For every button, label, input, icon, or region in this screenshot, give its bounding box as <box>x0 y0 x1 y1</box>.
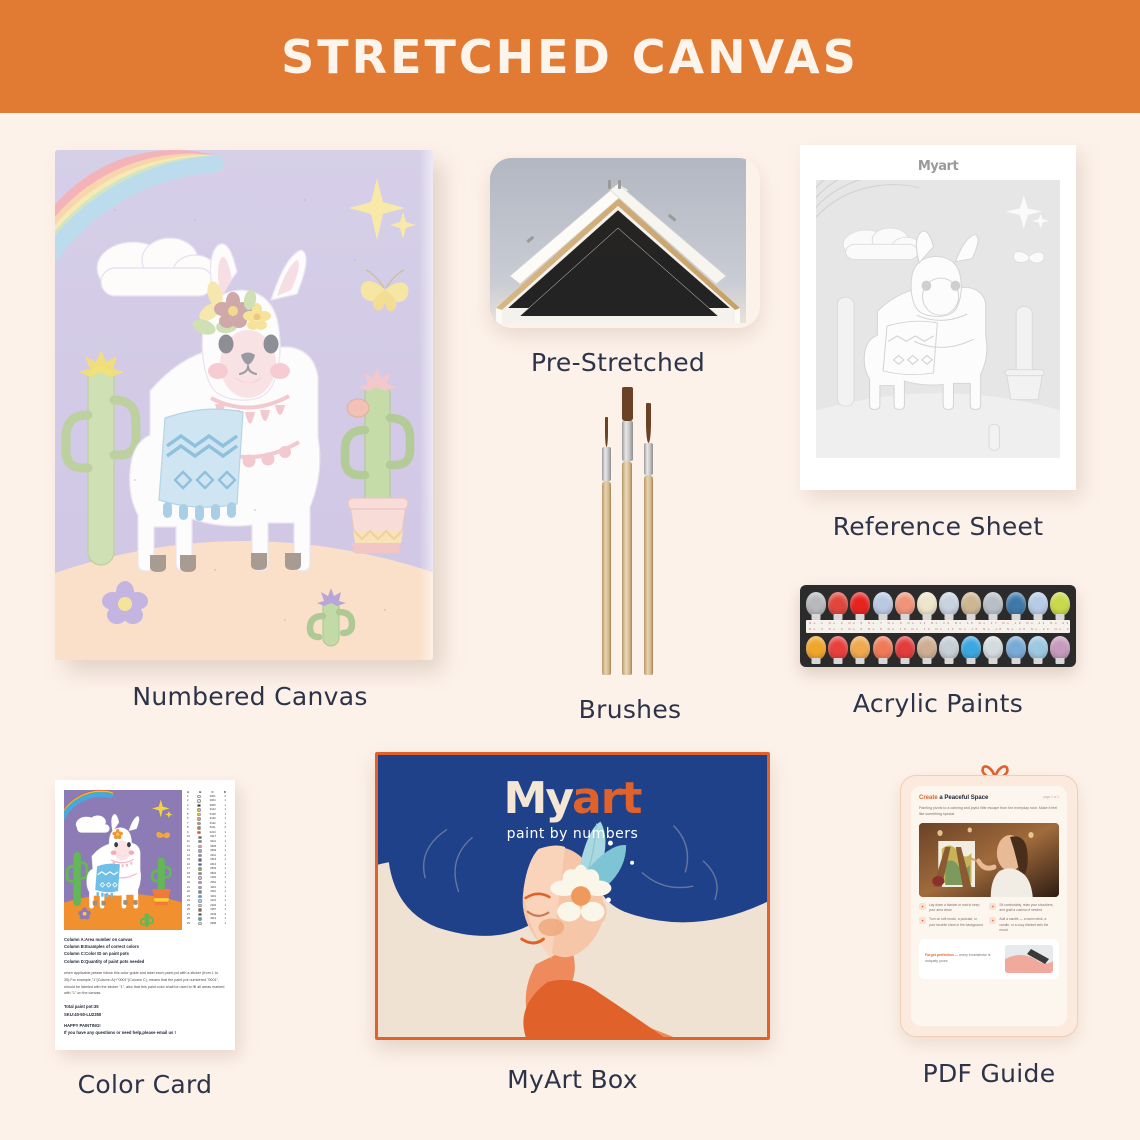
cc-color-swatch <box>198 867 201 870</box>
cc-color-id: 0001 <box>210 795 216 799</box>
caption-myart-box: MyArt Box <box>375 1065 770 1094</box>
cc-area-number: 21 <box>187 886 190 890</box>
cc-color-id: 0132 <box>210 822 216 826</box>
brushes-item: Brushes <box>540 380 720 724</box>
paint-pot-bottom-2 <box>828 636 848 660</box>
brush-tip <box>605 417 608 447</box>
caption-reference-sheet: Reference Sheet <box>800 512 1076 541</box>
cc-color-id: 0609 <box>210 849 216 853</box>
paint-pot-top-3 <box>850 592 870 616</box>
cc-area-number: 26 <box>187 908 190 912</box>
cc-color-swatch <box>198 908 201 911</box>
cc-quantity: 1 <box>225 908 226 912</box>
pdf-note: Forget perfection — every brushstroke is… <box>919 939 1059 979</box>
cc-area-number: 22 <box>187 890 190 894</box>
paint-pot-bottom-3 <box>850 636 870 660</box>
cc-color-swatch <box>198 899 201 902</box>
total-paint-pot: Total paint pot:35 <box>64 1003 226 1010</box>
logo-my-text: My <box>504 773 572 824</box>
pdf-note-accent: Forget perfection <box>925 953 954 957</box>
brush-thin <box>602 417 611 675</box>
paint-pot-bottom-10 <box>1006 636 1026 660</box>
cc-quantity: 1 <box>225 917 226 921</box>
myart-box-image: Myart paint by numbers <box>375 752 770 1040</box>
cc-quantity: 1 <box>225 922 226 926</box>
cc-quantity: 1 <box>225 863 226 867</box>
llama-artwork-svg <box>55 150 433 660</box>
paint-pot-top-11 <box>1028 592 1048 616</box>
cc-color-id: 2049 <box>210 913 216 917</box>
cc-color-id: 0128 <box>210 813 216 817</box>
cc-quantity: 1 <box>225 804 226 808</box>
cc-color-id: 3122 <box>210 899 216 903</box>
cc-area-number: 17 <box>187 867 190 871</box>
paint-tray-image: No.1 No.3 No.5 No.7 No.9 No.11 No.13 No.… <box>800 585 1076 667</box>
cc-color-swatch <box>198 895 201 898</box>
cc-color-swatch <box>197 831 200 834</box>
cc-color-swatch <box>198 876 201 879</box>
pdf-page-number: page 1 of 1 <box>1043 795 1059 799</box>
brush-flat <box>622 387 633 675</box>
cc-color-swatch <box>197 826 200 829</box>
cc-quantity: 1 <box>225 867 226 871</box>
color-card-legend: Column A:Area number on canvasColumn B:E… <box>64 936 226 965</box>
cc-color-id: 0503 <box>210 867 216 871</box>
cc-area-number: 1 <box>187 795 188 799</box>
canvas-frame-photo-svg <box>490 158 746 323</box>
cc-color-id: 0605 <box>210 845 216 849</box>
cc-color-swatch <box>197 799 200 802</box>
color-card-image: A B C D 10001220004130005140124150128160… <box>55 780 235 1050</box>
paint-pot-top-12 <box>1050 592 1070 616</box>
cc-quantity: 1 <box>225 835 226 839</box>
cc-color-swatch <box>197 813 200 816</box>
paint-tray-label: No.1 No.3 No.5 No.7 No.9 No.11 No.13 No.… <box>806 620 1070 633</box>
cc-quantity: 1 <box>225 886 226 890</box>
cc-area-number: 2 <box>187 799 188 803</box>
paint-pot-row-top <box>806 592 1070 616</box>
cc-quantity: 1 <box>225 849 226 853</box>
reference-sheet-image: Myart <box>800 145 1076 490</box>
color-card-legend-line-4: Column D:Quantity of paint pots needed <box>64 958 226 965</box>
pdf-tip-icon: ✦ <box>919 917 926 924</box>
cc-area-number: 29 <box>187 922 190 926</box>
cc-area-number: 25 <box>187 904 190 908</box>
cc-area-number: 8 <box>187 826 188 830</box>
reference-sheet-logo: Myart <box>816 159 1060 174</box>
col-a: A <box>187 790 189 794</box>
cc-quantity: 1 <box>225 881 226 885</box>
pdf-tip: ✦Lay down a blanket or mat to keep your … <box>919 903 983 913</box>
pdf-tip-text: Lay down a blanket or mat to keep your a… <box>929 903 983 913</box>
myart-logo: Myart paint by numbers <box>378 773 767 842</box>
cc-area-number: 27 <box>187 913 190 917</box>
help-text: If you have any questions or need help,p… <box>64 1029 226 1036</box>
cc-color-id: 0213 <box>210 831 216 835</box>
numbered-canvas-item: Numbered Canvas <box>55 150 445 711</box>
cc-area-number: 6 <box>187 817 188 821</box>
acrylic-paints-item: No.1 No.3 No.5 No.7 No.9 No.11 No.13 No.… <box>800 585 1090 718</box>
pdf-photo <box>919 823 1059 897</box>
paint-pot-bottom-11 <box>1028 636 1048 660</box>
cc-color-id: 0217 <box>210 835 216 839</box>
pdf-tip: ✦Add a candle — a warm drink, a candle, … <box>989 917 1053 932</box>
cc-color-id: 0008 <box>210 922 216 926</box>
cc-area-number: 5 <box>187 813 188 817</box>
color-card-legend-line-2: Column B:Examples of correct colors <box>64 943 226 950</box>
cc-quantity: 2 <box>225 795 226 799</box>
cc-area-number: 19 <box>187 876 190 880</box>
cc-color-swatch <box>198 917 201 920</box>
cc-area-number: 24 <box>187 899 190 903</box>
llama-outline-svg <box>816 180 1060 458</box>
cc-quantity: 1 <box>225 831 226 835</box>
numbered-canvas-image <box>55 150 433 660</box>
pdf-note-text: Forget perfection — every brushstroke is… <box>925 953 1000 964</box>
cc-quantity: 1 <box>225 899 226 903</box>
cc-quantity: 1 <box>225 808 226 812</box>
paint-pot-bottom-7 <box>939 636 959 660</box>
cc-area-number: 10 <box>187 835 190 839</box>
cc-color-id: 2051 <box>210 881 216 885</box>
cc-color-id: 0311 <box>210 854 216 858</box>
pdf-tip-icon: ✦ <box>919 903 926 910</box>
pdf-body-text: Painting pivots to a calming and joyful … <box>919 805 1059 817</box>
cc-quantity: 1 <box>225 895 226 899</box>
cc-area-number: 20 <box>187 881 190 885</box>
cc-color-swatch <box>198 913 201 916</box>
page-title: STRETCHED CANVAS <box>281 30 859 84</box>
llama-color-svg <box>64 790 182 930</box>
cc-area-number: 3 <box>187 804 188 808</box>
cc-area-number: 11 <box>187 840 190 844</box>
cc-color-id: 0413 <box>210 863 216 867</box>
cc-area-number: 7 <box>187 822 188 826</box>
caption-pdf-guide: PDF Guide <box>900 1059 1078 1088</box>
paint-pot-bottom-4 <box>873 636 893 660</box>
caption-color-card: Color Card <box>55 1070 235 1099</box>
color-card-item: A B C D 10001220004130005140124150128160… <box>55 780 250 1099</box>
color-card-footer: Total paint pot:35 SKU:40-50-LU2350 HAPP… <box>64 1003 226 1036</box>
color-card-legend-line-1: Column A:Area number on canvas <box>64 936 226 943</box>
cc-quantity: 1 <box>225 913 226 917</box>
paint-label-line-2: No.2 No.4 No.6 No.8 No.10 No.12 No.14 No… <box>809 627 1067 631</box>
cc-color-swatch <box>198 872 201 875</box>
paint-pot-top-6 <box>917 592 937 616</box>
paint-pot-top-4 <box>873 592 893 616</box>
brush-tip <box>646 403 651 443</box>
paint-pot-bottom-1 <box>806 636 826 660</box>
pdf-tip-text: Sit comfortably, relax your shoulders, a… <box>999 903 1053 913</box>
cc-area-number: 12 <box>187 845 190 849</box>
col-d: D <box>224 790 226 794</box>
cc-color-swatch <box>198 904 201 907</box>
brush-handle <box>602 481 611 675</box>
brushstroke-photo-svg <box>1005 945 1053 973</box>
cc-color-swatch <box>197 804 200 807</box>
cc-color-swatch <box>198 854 201 857</box>
paint-label-line-1: No.1 No.3 No.5 No.7 No.9 No.11 No.13 No.… <box>809 621 1067 625</box>
cc-quantity: 1 <box>225 876 226 880</box>
cc-quantity: 1 <box>225 858 226 862</box>
pdf-tip-icon: ✦ <box>989 917 996 924</box>
caption-acrylic-paints: Acrylic Paints <box>800 689 1076 718</box>
col-c: C <box>212 790 214 794</box>
color-card-row: 2900081 <box>187 921 226 926</box>
caption-numbered-canvas: Numbered Canvas <box>55 682 445 711</box>
cc-color-swatch <box>198 890 201 893</box>
pdf-tip-text: Add a candle — a warm drink, a candle, o… <box>999 917 1053 932</box>
cc-quantity: 1 <box>225 872 226 876</box>
pdf-heading: page 1 of 1 Create a Peaceful Space <box>919 795 1059 801</box>
brush-handle <box>622 461 632 675</box>
cc-area-number: 14 <box>187 854 190 858</box>
cc-color-swatch <box>197 795 200 798</box>
cc-area-number: 15 <box>187 858 190 862</box>
cc-color-swatch <box>198 836 201 839</box>
col-b: B <box>199 790 201 794</box>
cc-color-id: 0130 <box>210 817 216 821</box>
cc-color-id: 3115 <box>210 886 216 890</box>
paint-pot-bottom-5 <box>895 636 915 660</box>
pdf-guide-item: page 1 of 1 Create a Peaceful Space Pain… <box>900 775 1090 1088</box>
logo-tagline: paint by numbers <box>378 826 767 842</box>
paint-pot-bottom-8 <box>961 636 981 660</box>
cc-area-number: 9 <box>187 831 188 835</box>
cc-color-id: 1202 <box>210 876 216 880</box>
cc-color-id: 0221 <box>210 840 216 844</box>
pdf-heading-rest: a Peaceful Space <box>938 795 989 801</box>
cc-area-number: 16 <box>187 863 190 867</box>
cc-color-swatch <box>198 845 201 848</box>
cc-color-swatch <box>198 881 201 884</box>
paint-pot-top-9 <box>983 592 1003 616</box>
pdf-tip-list: ✦Lay down a blanket or mat to keep your … <box>919 903 1059 933</box>
paint-pot-bottom-6 <box>917 636 937 660</box>
cc-color-swatch <box>198 922 201 925</box>
paint-pot-top-5 <box>895 592 915 616</box>
brush-ferrule <box>602 447 611 481</box>
happy-painting: HAPPY PAINTING! <box>64 1022 226 1029</box>
brush-ferrule <box>644 443 653 475</box>
cc-color-id: 0504 <box>210 872 216 876</box>
cc-color-id: 2202 <box>210 904 216 908</box>
cc-color-id: 0004 <box>210 799 216 803</box>
pre-stretched-image <box>490 158 760 328</box>
cc-area-number: 13 <box>187 849 190 853</box>
reference-sheet-artwork <box>816 180 1060 458</box>
page-header: STRETCHED CANVAS <box>0 0 1140 113</box>
cc-color-swatch <box>198 886 201 889</box>
cc-quantity: 1 <box>225 890 226 894</box>
myart-box-item: Myart paint by numbers MyArt Box <box>375 752 775 1094</box>
pdf-tip-icon: ✦ <box>989 903 996 910</box>
brush-round <box>644 403 653 675</box>
cc-color-id: 3014 <box>210 917 216 921</box>
cc-quantity: 2 <box>225 826 226 830</box>
pdf-tip: ✦Turn on soft music, a podcast, or your … <box>919 917 983 932</box>
cc-color-swatch <box>198 849 201 852</box>
cc-quantity: 1 <box>225 817 226 821</box>
brushes-image <box>540 380 720 675</box>
pdf-tip: ✦Sit comfortably, relax your shoulders, … <box>989 903 1053 913</box>
cc-color-id: 0141 <box>210 826 216 830</box>
cc-color-id: 0005 <box>210 804 216 808</box>
cc-quantity: 1 <box>225 840 226 844</box>
cc-quantity: 1 <box>225 845 226 849</box>
pdf-page: page 1 of 1 Create a Peaceful Space Pain… <box>911 786 1067 1026</box>
color-card-top: A B C D 10001220004130005140124150128160… <box>64 790 226 930</box>
cc-color-swatch <box>197 817 200 820</box>
paint-pot-row-bottom <box>806 636 1070 660</box>
cc-quantity: 1 <box>225 799 226 803</box>
color-card-artwork <box>64 790 182 930</box>
cc-color-swatch <box>197 808 200 811</box>
pdf-heading-accent: Create <box>919 795 938 801</box>
pdf-guide-image: page 1 of 1 Create a Peaceful Space Pain… <box>900 775 1078 1037</box>
caption-pre-stretched: Pre-Stretched <box>490 348 746 377</box>
cc-color-swatch <box>198 863 201 866</box>
cc-area-number: 23 <box>187 895 190 899</box>
brush-tip <box>622 387 633 421</box>
paint-pot-bottom-12 <box>1050 636 1070 660</box>
cc-area-number: 28 <box>187 917 190 921</box>
cc-quantity: 1 <box>225 813 226 817</box>
color-card-instructions: when applicable,please follow this color… <box>64 970 226 997</box>
cc-color-swatch <box>198 858 201 861</box>
cc-color-id: 0124 <box>210 808 216 812</box>
paint-pot-top-7 <box>939 592 959 616</box>
sku: SKU:40-50-LU2350 <box>64 1011 226 1018</box>
cc-quantity: 1 <box>225 904 226 908</box>
cc-color-id: 1057 <box>210 908 216 912</box>
paint-pot-top-10 <box>1006 592 1026 616</box>
logo-art-text: art <box>572 773 641 824</box>
caption-brushes: Brushes <box>540 695 720 724</box>
brush-ferrule <box>622 421 633 461</box>
color-card-table: A B C D 10001220004130005140124150128160… <box>187 790 226 930</box>
pdf-tip-text: Turn on soft music, a podcast, or your f… <box>929 917 983 932</box>
pre-stretched-item: Pre-Stretched <box>490 158 760 377</box>
cc-color-id: 0319 <box>210 858 216 862</box>
brush-handle <box>644 475 653 675</box>
cc-color-id: 3116 <box>210 890 216 894</box>
painter-photo-svg <box>919 823 1059 897</box>
reference-sheet-item: Myart <box>800 145 1090 541</box>
cc-area-number: 4 <box>187 808 188 812</box>
cc-color-id: 3119 <box>210 895 216 899</box>
paint-pot-top-1 <box>806 592 826 616</box>
paint-pot-bottom-9 <box>983 636 1003 660</box>
paint-pot-top-8 <box>961 592 981 616</box>
cc-color-swatch <box>198 840 201 843</box>
pdf-note-image <box>1005 945 1053 973</box>
color-card-legend-line-3: Column C:Color ID on paint pots <box>64 950 226 957</box>
cc-quantity: 2 <box>225 854 226 858</box>
canvas-edge <box>419 150 433 660</box>
cc-quantity: 1 <box>225 822 226 826</box>
cc-area-number: 18 <box>187 872 190 876</box>
paint-pot-top-2 <box>828 592 848 616</box>
cc-color-swatch <box>197 822 200 825</box>
